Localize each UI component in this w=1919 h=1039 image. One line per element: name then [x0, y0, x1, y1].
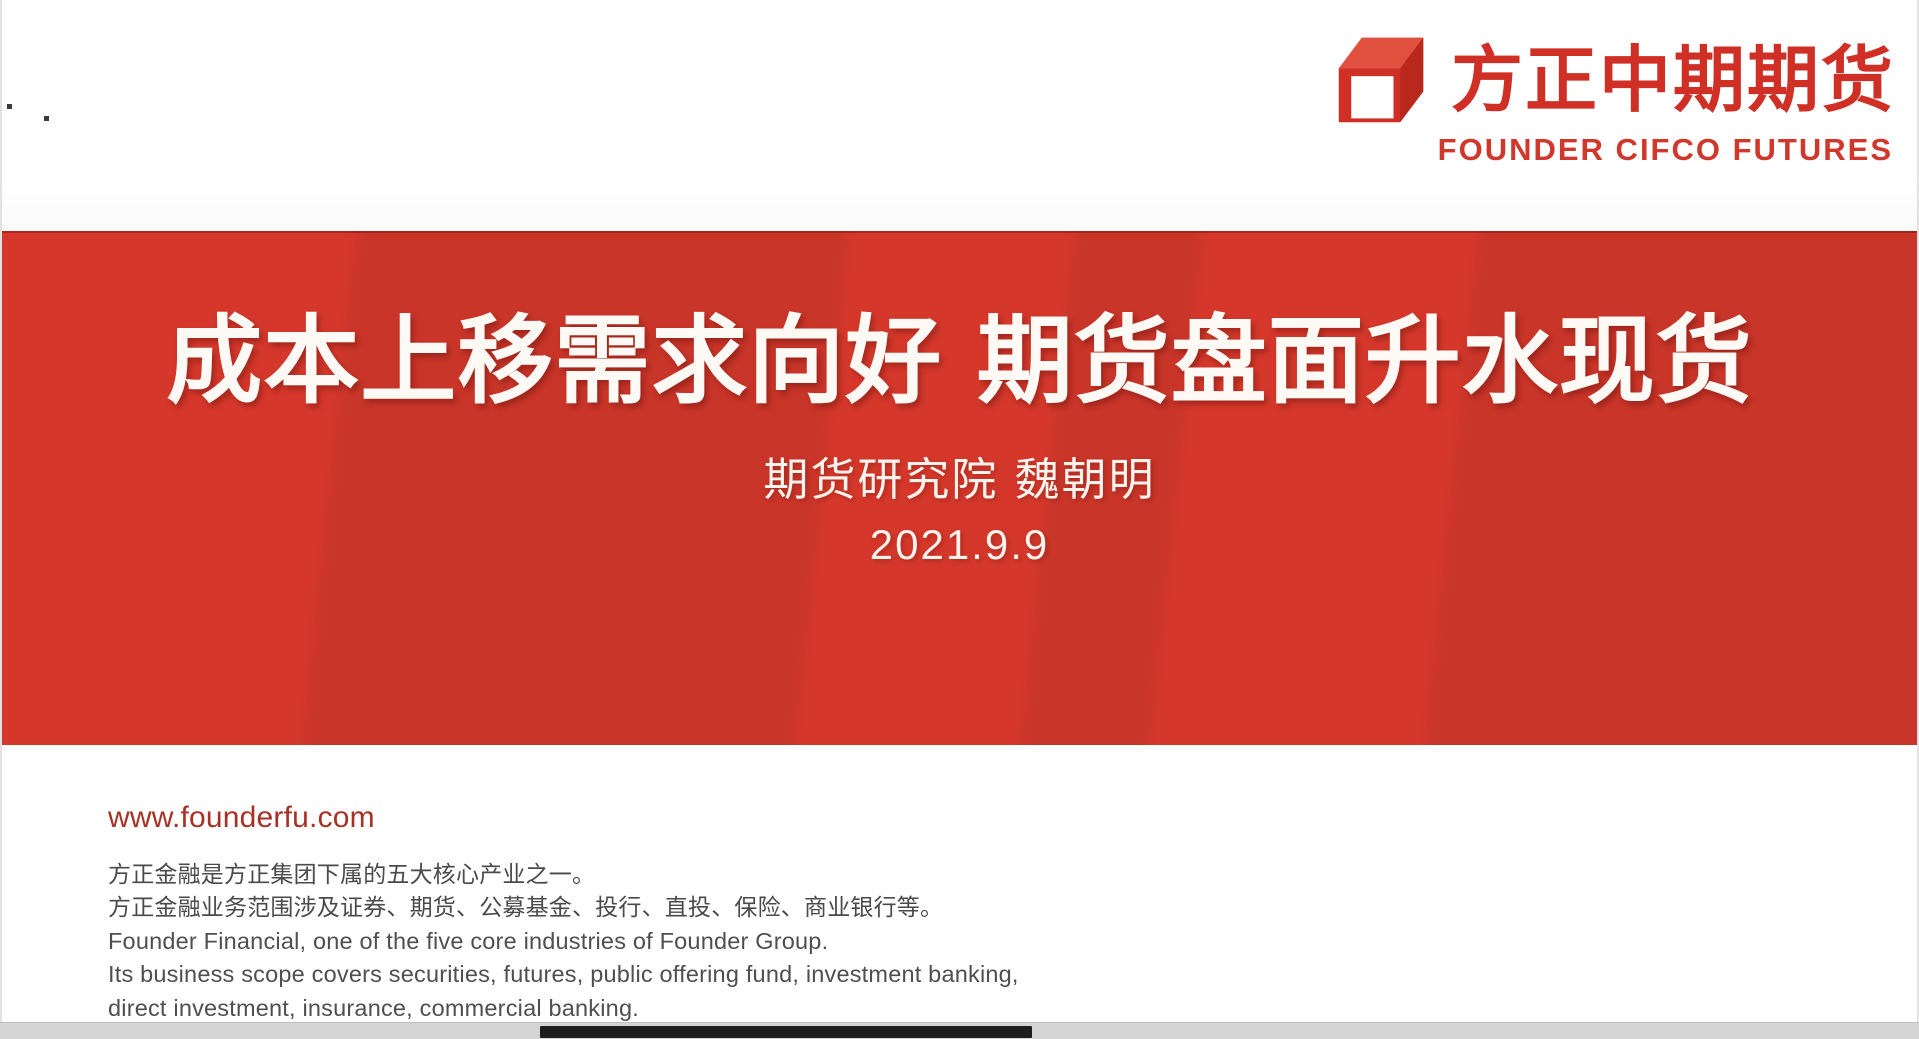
slide-presenter: 期货研究院 魏朝明 — [763, 409, 1155, 502]
horizontal-scrollbar-thumb[interactable] — [540, 1026, 1032, 1038]
footer-content: www.founderfu.com 方正金融是方正集团下属的五大核心产业之一。 … — [108, 803, 1019, 1022]
footer-line-en: direct investment, insurance, commercial… — [108, 992, 1019, 1022]
horizontal-scrollbar[interactable] — [0, 1022, 1919, 1039]
footer-line-en: Its business scope covers securities, fu… — [108, 958, 1019, 992]
presentation-slide: 方正中期期货 FOUNDER CIFCO FUTURES 成本上移需求向好 期货… — [0, 0, 1919, 1022]
image-speck-artifact — [7, 104, 12, 109]
slide-viewport: 方正中期期货 FOUNDER CIFCO FUTURES 成本上移需求向好 期货… — [0, 0, 1919, 1039]
slide-header: 方正中期期货 FOUNDER CIFCO FUTURES — [2, 0, 1917, 231]
company-logo: 方正中期期货 FOUNDER CIFCO FUTURES — [1333, 32, 1895, 168]
slide-title: 成本上移需求向好 期货盘面升水现货 — [166, 231, 1752, 409]
hero-content: 成本上移需求向好 期货盘面升水现货 期货研究院 魏朝明 2021.9.9 — [2, 231, 1917, 745]
image-speck-artifact — [44, 116, 49, 121]
logo-chinese-name: 方正中期期货 — [1451, 44, 1895, 116]
footer-line: 方正金融是方正集团下属的五大核心产业之一。 — [108, 859, 1019, 892]
logo-english-name: FOUNDER CIFCO FUTURES — [1438, 132, 1893, 168]
footer-line-en: Founder Financial, one of the five core … — [108, 925, 1019, 959]
footer-description: 方正金融是方正集团下属的五大核心产业之一。 方正金融业务范围涉及证券、期货、公募… — [108, 859, 1019, 1022]
cube-logo-icon — [1333, 32, 1429, 128]
footer-line: 方正金融业务范围涉及证券、期货、公募基金、投行、直投、保险、商业银行等。 — [108, 892, 1019, 925]
company-website-link[interactable]: www.founderfu.com — [108, 801, 375, 834]
slide-footer: www.founderfu.com 方正金融是方正集团下属的五大核心产业之一。 … — [2, 745, 1917, 1022]
slide-date: 2021.9.9 — [870, 502, 1050, 566]
logo-primary-row: 方正中期期货 — [1333, 32, 1895, 128]
hero-banner: 成本上移需求向好 期货盘面升水现货 期货研究院 魏朝明 2021.9.9 — [2, 231, 1917, 745]
